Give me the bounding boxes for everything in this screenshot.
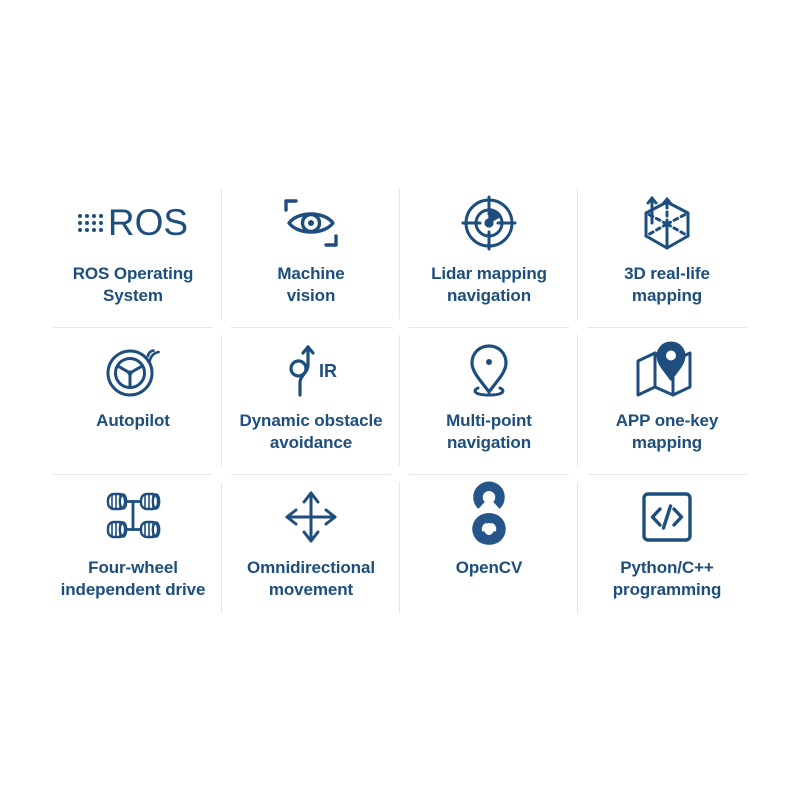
feature-cell-lidar-mapping-navigation[interactable]: Lidar mapping navigation bbox=[400, 180, 578, 327]
ros-dot-matrix bbox=[78, 214, 103, 232]
cube-3d-axes-icon bbox=[638, 192, 696, 254]
feature-grid-container: ROS ROS Operating System Machine bbox=[0, 0, 800, 800]
feature-label: Multi-point navigation bbox=[446, 410, 532, 455]
feature-label: Dynamic obstacle avoidance bbox=[240, 410, 383, 455]
ros-wordmark: ROS bbox=[108, 204, 188, 241]
code-brackets-icon bbox=[640, 486, 694, 548]
feature-cell-autopilot[interactable]: Autopilot bbox=[44, 327, 222, 474]
feature-cell-multi-point-navigation[interactable]: Multi-point navigation bbox=[400, 327, 578, 474]
feature-label: Omnidirectional movement bbox=[247, 557, 375, 602]
feature-cell-python-cpp-programming[interactable]: Python/C++ programming bbox=[578, 474, 756, 621]
feature-label: 3D real-life mapping bbox=[624, 263, 710, 308]
folded-map-pin-icon bbox=[633, 339, 701, 401]
four-way-arrows-icon bbox=[283, 486, 339, 548]
map-pin-icon bbox=[464, 339, 514, 401]
opencv-logo-icon bbox=[460, 486, 518, 548]
radar-target-icon bbox=[460, 192, 518, 254]
feature-label: Machine vision bbox=[277, 263, 344, 308]
ir-label: IR bbox=[319, 361, 337, 381]
feature-cell-omnidirectional-movement[interactable]: Omnidirectional movement bbox=[222, 474, 400, 621]
feature-cell-dynamic-obstacle-avoidance[interactable]: IR Dynamic obstacle avoidance bbox=[222, 327, 400, 474]
feature-label: Four-wheel independent drive bbox=[61, 557, 206, 602]
feature-cell-machine-vision[interactable]: Machine vision bbox=[222, 180, 400, 327]
feature-label: ROS Operating System bbox=[73, 263, 194, 308]
steering-wheel-signal-icon bbox=[103, 339, 163, 401]
feature-cell-opencv[interactable]: OpenCV bbox=[400, 474, 578, 621]
feature-label: Python/C++ programming bbox=[613, 557, 721, 602]
feature-grid: ROS ROS Operating System Machine bbox=[44, 180, 756, 621]
feature-label: OpenCV bbox=[456, 557, 522, 579]
feature-cell-app-one-key-mapping[interactable]: APP one-key mapping bbox=[578, 327, 756, 474]
feature-label: Autopilot bbox=[96, 410, 170, 432]
feature-cell-ros-operating-system[interactable]: ROS ROS Operating System bbox=[44, 180, 222, 327]
obstacle-avoid-ir-icon: IR bbox=[278, 339, 344, 401]
ros-logo-icon: ROS bbox=[78, 192, 188, 254]
feature-cell-3d-real-life-mapping[interactable]: 3D real-life mapping bbox=[578, 180, 756, 327]
feature-label: Lidar mapping navigation bbox=[431, 263, 547, 308]
feature-label: APP one-key mapping bbox=[616, 410, 719, 455]
four-wheels-chassis-icon bbox=[102, 486, 164, 548]
eye-scan-icon bbox=[280, 192, 342, 254]
feature-cell-four-wheel-independent-drive[interactable]: Four-wheel independent drive bbox=[44, 474, 222, 621]
